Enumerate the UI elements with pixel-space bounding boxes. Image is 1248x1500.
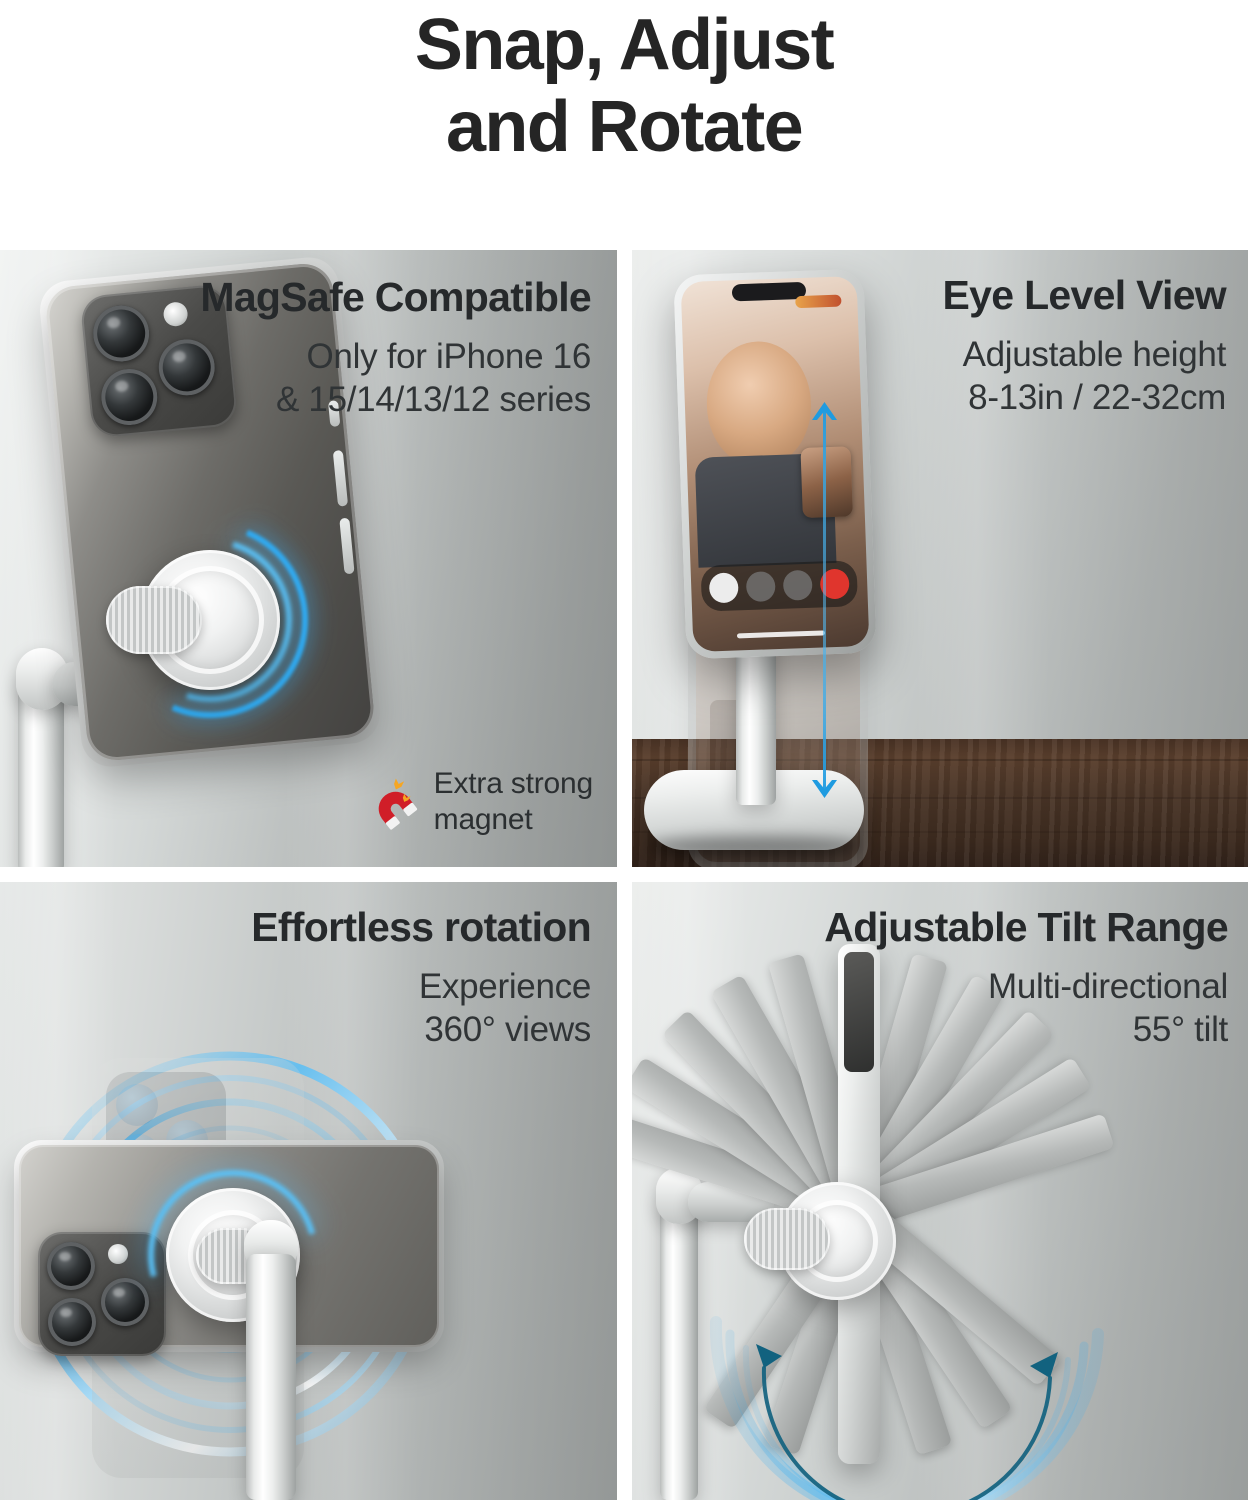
headline-line-1: Snap, Adjust [0,4,1248,86]
magnet-badge-line-1: Extra strong [434,766,593,803]
panel-subtitle-line-1: Adjustable height [943,333,1226,376]
magnet-badge-line-2: magnet [434,802,593,839]
magnet-icon [364,774,420,830]
panel-subtitle-line-2: & 15/14/13/12 series [200,378,591,421]
panel-subtitle-line-2: 8-13in / 22-32cm [943,376,1226,419]
stand-base-shadow [648,836,862,856]
panel-text-block: Eye Level View Adjustable height 8-13in … [943,272,1226,420]
ball-joint-knurl [106,586,202,654]
panel-text-block: Adjustable Tilt Range Multi-directional … [824,904,1228,1052]
panel-subtitle-line-2: 360° views [251,1008,591,1051]
feature-panel-grid: MagSafe Compatible Only for iPhone 16 & … [0,250,1248,1500]
panel-eye-level-view: Eye Level View Adjustable height 8-13in … [632,250,1248,867]
extra-strong-magnet-badge: Extra strong magnet [364,766,593,839]
magnet-badge-text: Extra strong magnet [434,766,593,839]
infographic-page: Snap, Adjust and Rotate [0,0,1248,1500]
headline-line-2: and Rotate [0,86,1248,168]
panel-magsafe-compatible: MagSafe Compatible Only for iPhone 16 & … [0,250,617,867]
panel-text-block: Effortless rotation Experience 360° view… [251,904,591,1052]
phone-raised [673,269,876,659]
panel-subtitle: Experience 360° views [251,965,591,1052]
panel-subtitle: Only for iPhone 16 & 15/14/13/12 series [200,335,591,422]
panel-title: Eye Level View [943,272,1226,319]
panel-subtitle-line-1: Only for iPhone 16 [200,335,591,378]
ball-joint-knurl [744,1208,830,1270]
tilt-arc-arrow [698,1282,1118,1500]
height-adjust-arrow [808,400,842,800]
panel-title: Adjustable Tilt Range [824,904,1228,951]
panel-subtitle-line-1: Experience [251,965,591,1008]
stand-pole [246,1254,296,1500]
panel-subtitle-line-1: Multi-directional [824,965,1228,1008]
camera-module [38,1232,166,1356]
panel-effortless-rotation: Effortless rotation Experience 360° view… [0,882,617,1500]
panel-subtitle: Multi-directional 55° tilt [824,965,1228,1052]
panel-title: Effortless rotation [251,904,591,951]
panel-adjustable-tilt-range: Adjustable Tilt Range Multi-directional … [632,882,1248,1500]
panel-subtitle-line-2: 55° tilt [824,1008,1228,1051]
panel-title: MagSafe Compatible [200,274,591,321]
panel-text-block: MagSafe Compatible Only for iPhone 16 & … [200,274,591,422]
page-title: Snap, Adjust and Rotate [0,4,1248,168]
panel-subtitle: Adjustable height 8-13in / 22-32cm [943,333,1226,420]
